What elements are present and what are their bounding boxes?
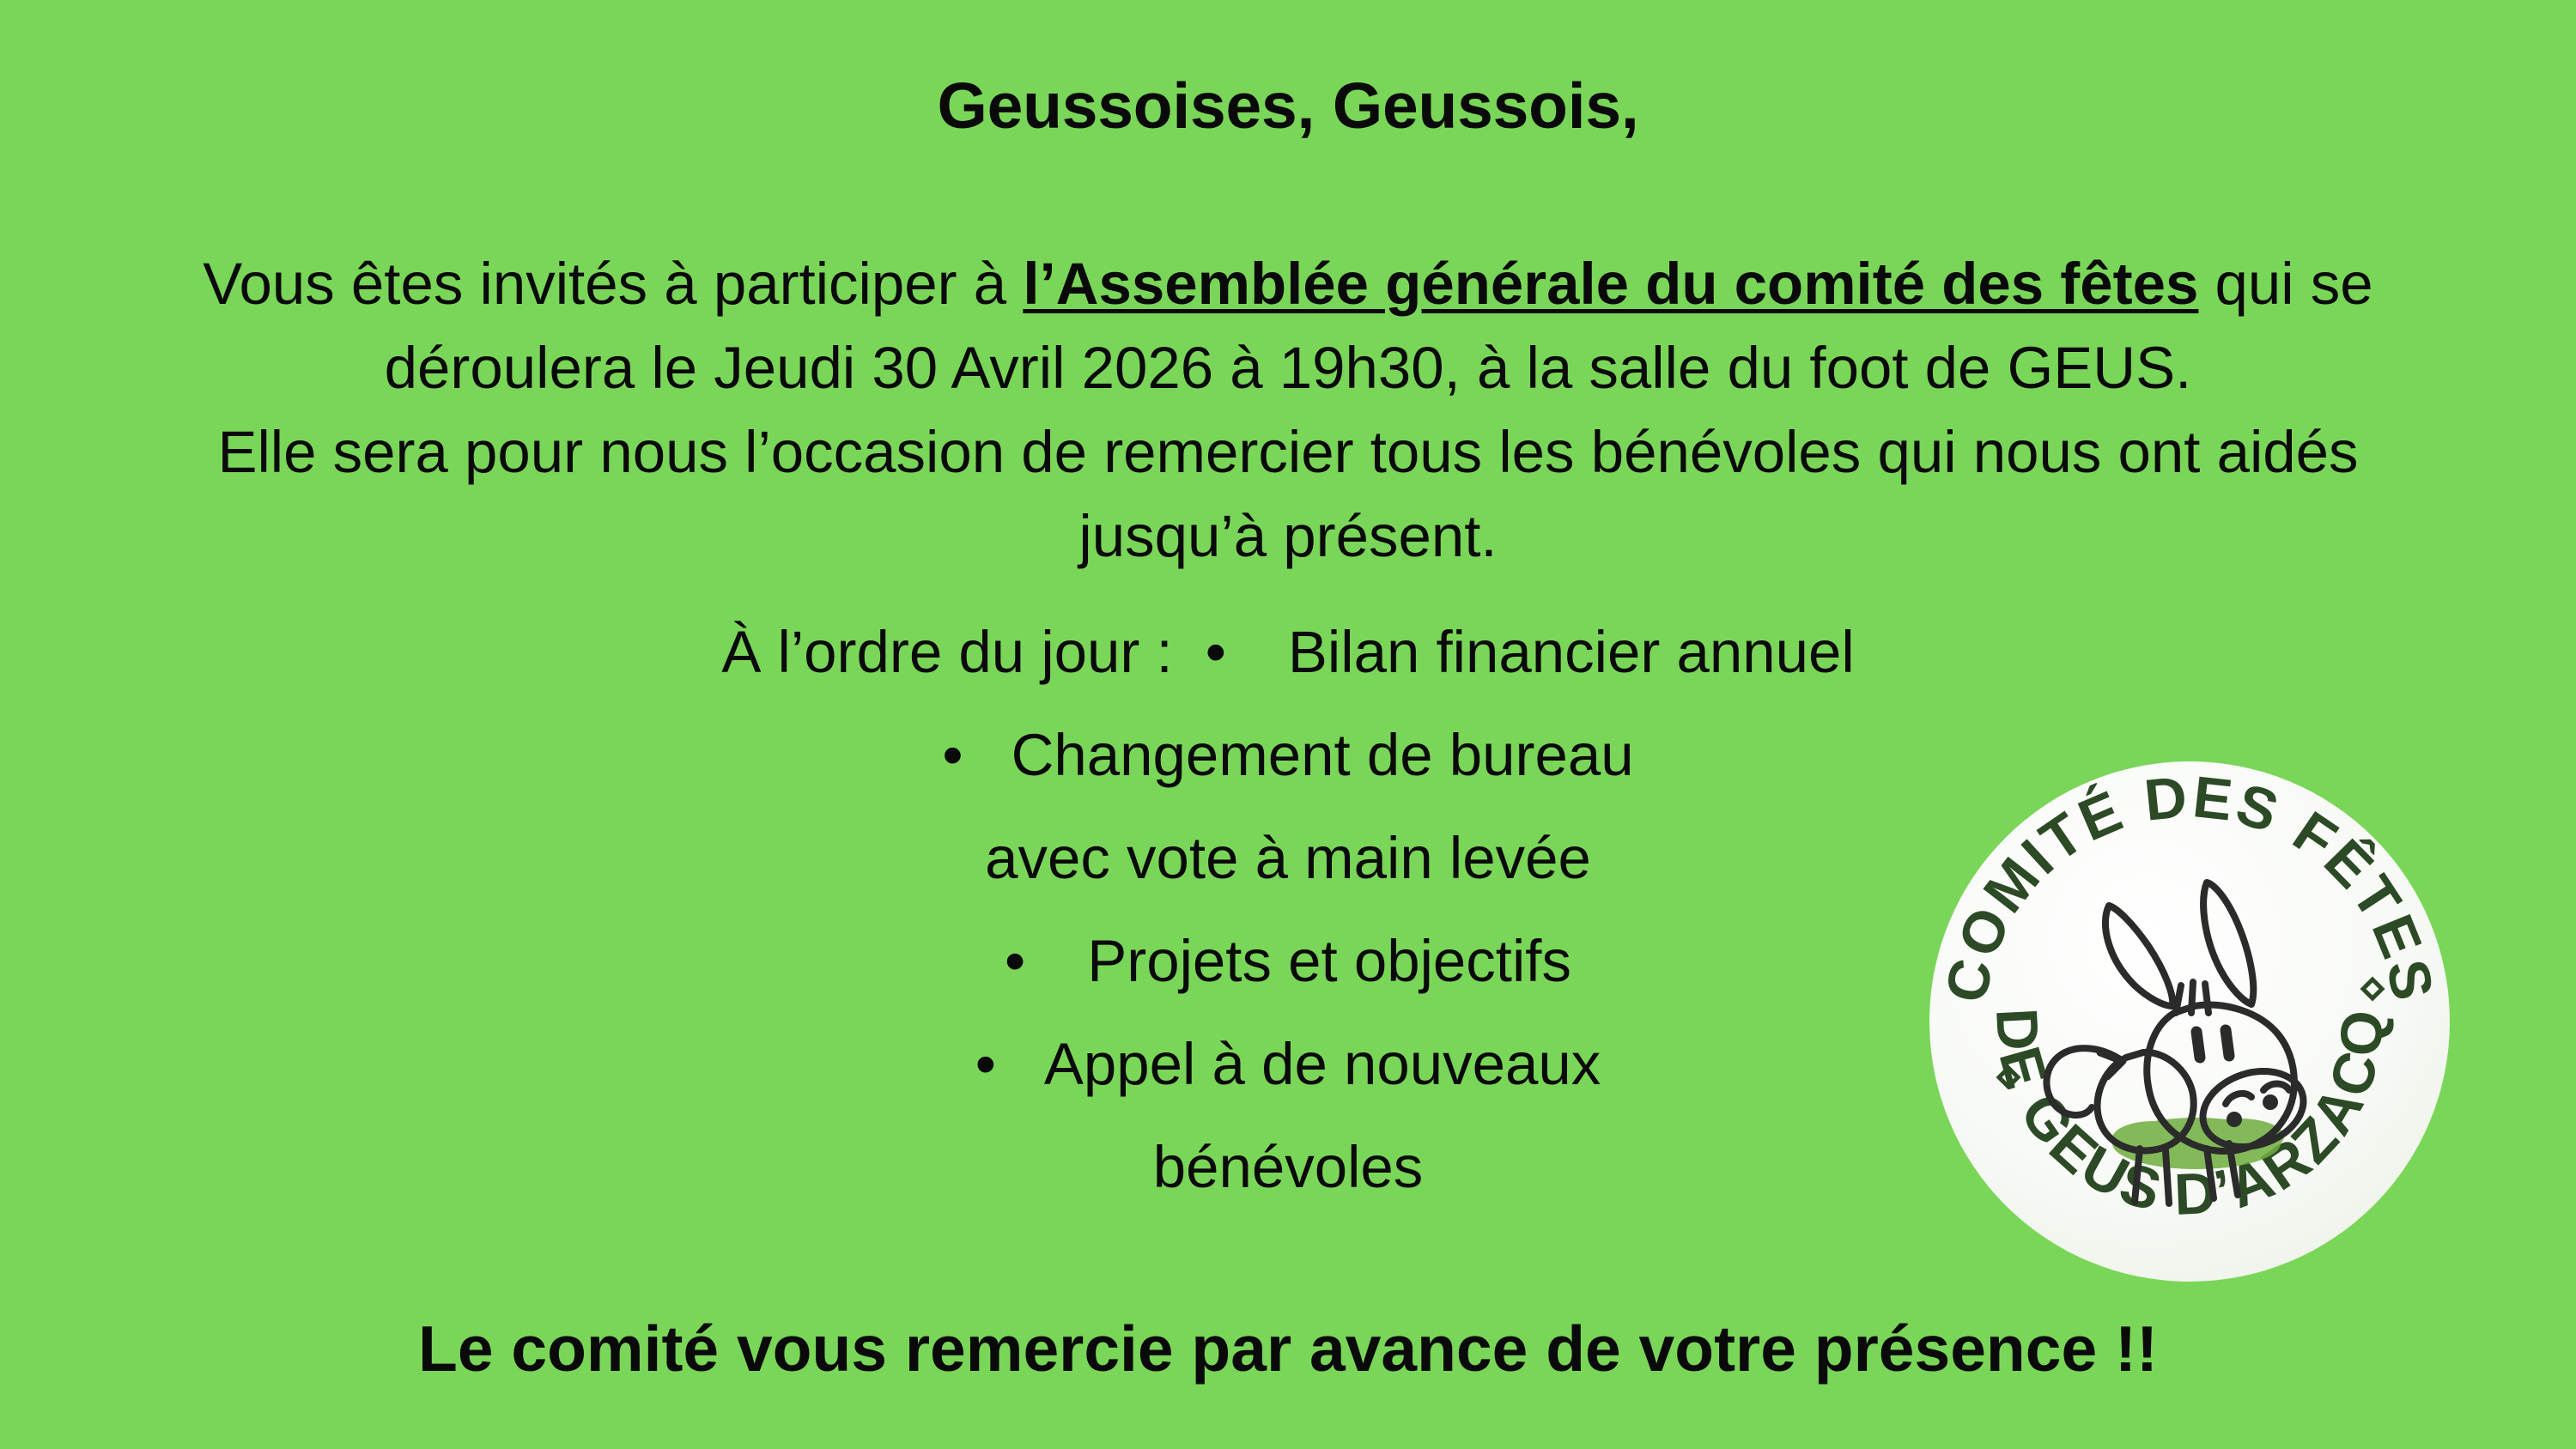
agenda-item-label: Changement de bureau (1012, 722, 1634, 788)
body-line-1-emphasis: l’Assemblée générale du comité des fêtes (1023, 251, 2198, 317)
body-line-1-before: Vous êtes invités à participer à (203, 251, 1023, 317)
agenda-item-label: avec vote à main levée (985, 825, 1591, 891)
body-line-3: Elle sera pour nous l’occasion de remerc… (52, 410, 2524, 494)
agenda-prefix-label: À l’ordre du jour : (721, 619, 1172, 685)
agenda-item-label: bénévoles (1153, 1134, 1424, 1200)
bullet-icon: • (1206, 622, 1226, 682)
agenda-item-label: Appel à de nouveaux (1044, 1031, 1601, 1097)
page-title: Geussoises, Geussois, (0, 74, 2576, 138)
body-line-2: déroulera le Jeudi 30 Avril 2026 à 19h30… (52, 326, 2524, 410)
bullet-icon: • (975, 1034, 996, 1094)
poster-canvas: Geussoises, Geussois, Vous êtes invités … (0, 0, 2576, 1449)
agenda-item-bilan: À l’ordre du jour :•Bilan financier annu… (0, 601, 2576, 704)
bullet-icon: • (1005, 931, 1025, 991)
body-line-1-after: qui se (2198, 251, 2372, 317)
agenda-item-label: Projets et objectifs (1087, 928, 1571, 994)
closing-thanks: Le comité vous remercie par avance de vo… (0, 1317, 2576, 1381)
committee-logo: COMITÉ DES FÊTES DE GEUS D’ARZACQ (1923, 755, 2456, 1288)
announcement-body: Vous êtes invités à participer à l’Assem… (52, 242, 2524, 579)
body-line-1: Vous êtes invités à participer à l’Assem… (52, 242, 2524, 326)
bullet-icon: • (942, 725, 963, 785)
body-line-4: jusqu’à présent. (52, 494, 2524, 579)
agenda-item-label: Bilan financier annuel (1288, 619, 1855, 685)
